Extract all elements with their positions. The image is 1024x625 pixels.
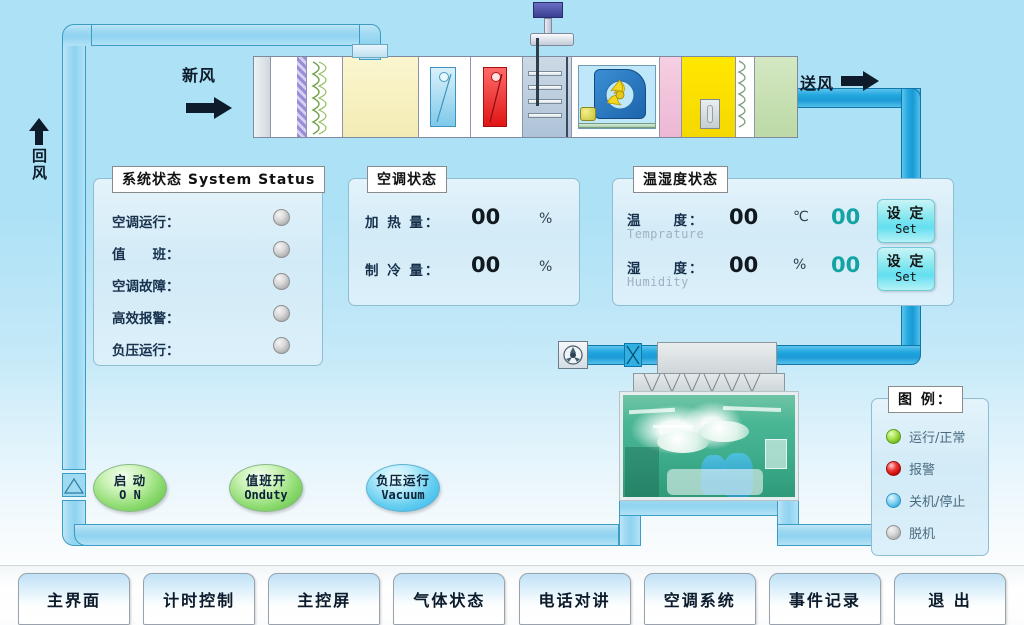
temperature-set-label-zh: 设 定	[887, 207, 926, 222]
temperature-set-label-en: Set	[895, 222, 917, 236]
system-status-panel: 系统状态 System Status 空调运行： 值 班： 空调故障： 高效报警…	[93, 178, 323, 366]
air-handling-unit	[253, 56, 798, 138]
vacuum-button[interactable]: 负压运行 Vacuum	[366, 464, 440, 512]
ahu-heating-coil-section	[471, 57, 523, 137]
status-row-label-1: 值 班：	[112, 243, 180, 263]
humidity-value: 00	[729, 253, 758, 277]
legend-item-stopped: 关机/停止	[886, 491, 965, 510]
humidity-set-label-zh: 设 定	[887, 255, 926, 270]
ahu-outlet-section	[755, 57, 797, 137]
nav-button-event-log[interactable]: 事件记录	[769, 573, 881, 625]
ahu-filter-yellow-section	[343, 57, 419, 137]
legend-item-alarm: 报警	[886, 459, 935, 478]
temp-humidity-title: 温湿度状态	[633, 166, 728, 193]
heating-label: 加 热 量：	[365, 211, 440, 231]
legend-label-running: 运行/正常	[909, 427, 965, 446]
vacuum-label-zh: 负压运行	[376, 474, 430, 488]
operating-room-camera-view[interactable]	[620, 392, 798, 500]
nav-button-gas-status[interactable]: 气体状态	[393, 573, 505, 625]
valve-pipe-right	[536, 38, 539, 46]
heating-unit: %	[539, 211, 552, 227]
temperature-sublabel: Temprature	[627, 227, 704, 241]
status-row-label-4: 负压运行：	[112, 339, 180, 359]
status-row-label-2: 空调故障：	[112, 275, 180, 295]
return-air-arrow-icon	[28, 118, 50, 146]
system-status-title: 系统状态 System Status	[112, 166, 325, 193]
inline-fan-icon	[558, 341, 588, 369]
nav-button-main-panel[interactable]: 主控屏	[268, 573, 380, 625]
duct-top-left-elbow	[62, 24, 92, 46]
legend-title: 图 例：	[888, 386, 963, 413]
onduty-label-en: Onduty	[244, 488, 287, 502]
humidity-unit: %	[793, 257, 806, 273]
temperature-set-button[interactable]: 设 定 Set	[877, 199, 935, 243]
nav-button-intercom[interactable]: 电话对讲	[519, 573, 631, 625]
branch-damper-blade-icon	[625, 344, 641, 366]
humidity-sublabel: Humidity	[627, 275, 689, 289]
duct-bottom-horizontal	[74, 524, 619, 546]
humidity-setpoint: 00	[831, 253, 860, 277]
legend-item-running: 运行/正常	[886, 427, 965, 446]
onduty-button[interactable]: 值班开 Onduty	[229, 464, 303, 512]
status-lamp-hepa-alarm	[273, 305, 290, 322]
supply-air-label: 送风	[800, 70, 834, 94]
cooling-label: 制 冷 量：	[365, 259, 440, 279]
valve-actuator	[533, 2, 563, 18]
start-on-label-zh: 启 动	[114, 474, 146, 488]
legend-lamp-green	[886, 429, 901, 444]
ac-status-title: 空调状态	[367, 166, 447, 193]
duct-top-horizontal	[86, 24, 361, 46]
ahu-fan-section	[572, 57, 659, 137]
legend-lamp-blue	[886, 493, 901, 508]
legend-lamp-gray	[886, 525, 901, 540]
heating-value: 00	[471, 205, 500, 229]
ahu-inlet-damper	[254, 57, 271, 137]
ahu-inlet-collar	[352, 44, 388, 58]
return-air-label: 回风	[31, 148, 47, 182]
legend-label-alarm: 报警	[909, 459, 935, 478]
fan-motor-icon	[580, 107, 596, 121]
ahu-pink-filter-section	[660, 57, 683, 137]
onduty-label-zh: 值班开	[246, 474, 287, 488]
status-row-label-3: 高效报警：	[112, 307, 180, 327]
start-on-label-en: O N	[119, 488, 141, 502]
ahu-yellow-section-2	[682, 57, 736, 137]
bottom-navigation-bar: 主界面 计时控制 主控屏 气体状态 电话对讲 空调系统 事件记录 退 出	[0, 565, 1024, 622]
status-lamp-ac-fault	[273, 273, 290, 290]
nav-button-main-screen[interactable]: 主界面	[18, 573, 130, 625]
nav-button-timer-control[interactable]: 计时控制	[143, 573, 255, 625]
status-lamp-ac-running	[273, 209, 290, 226]
mimic-canvas: 新风 送风 回风 系统状态 System Status 空调运行： 值 班： 空…	[0, 0, 1024, 565]
supply-air-arrow-icon	[841, 70, 881, 92]
duct-left-riser	[62, 30, 86, 470]
cooling-value: 00	[471, 253, 500, 277]
ac-status-panel: 空调状态 加 热 量： 00 % 制 冷 量： 00 %	[348, 178, 580, 306]
temp-humidity-panel: 温湿度状态 温 度： Temprature 00 ℃ 00 设 定 Set 湿 …	[612, 178, 954, 306]
humidity-set-button[interactable]: 设 定 Set	[877, 247, 935, 291]
vacuum-label-en: Vacuum	[381, 488, 424, 502]
supply-duct-fan-branch	[585, 345, 625, 365]
status-lamp-on-duty	[273, 241, 290, 258]
temperature-label: 温 度：	[627, 209, 705, 229]
temperature-unit: ℃	[793, 209, 809, 225]
legend-item-offline: 脱机	[886, 523, 935, 542]
ahu-final-coil-section	[736, 57, 755, 137]
temperature-setpoint: 00	[831, 205, 860, 229]
damper-icon	[63, 474, 85, 496]
ahu-humidifier-section	[523, 57, 572, 137]
humidity-label: 湿 度：	[627, 257, 705, 277]
fresh-air-arrow-icon	[186, 95, 234, 121]
ahu-cooling-coil-section	[419, 57, 471, 137]
cooling-unit: %	[539, 259, 552, 275]
nav-button-hvac-system[interactable]: 空调系统	[644, 573, 756, 625]
legend-panel: 图 例： 运行/正常 报警 关机/停止 脱机	[871, 398, 989, 556]
temperature-value: 00	[729, 205, 758, 229]
valve-pipe-down	[536, 44, 539, 106]
ahu-coil-section	[307, 57, 343, 137]
start-on-button[interactable]: 启 动 O N	[93, 464, 167, 512]
ahu-prefilter-section	[271, 57, 307, 137]
humidity-set-label-en: Set	[895, 270, 917, 284]
diffuser-vanes-icon	[640, 374, 780, 394]
valve-stem	[544, 18, 552, 34]
supply-plenum	[657, 342, 777, 374]
legend-label-offline: 脱机	[909, 523, 935, 542]
fresh-air-label: 新风	[182, 62, 216, 86]
status-row-label-0: 空调运行：	[112, 211, 180, 231]
nav-button-exit[interactable]: 退 出	[894, 573, 1006, 625]
legend-label-stopped: 关机/停止	[909, 491, 965, 510]
legend-lamp-red	[886, 461, 901, 476]
status-lamp-negative-pressure	[273, 337, 290, 354]
